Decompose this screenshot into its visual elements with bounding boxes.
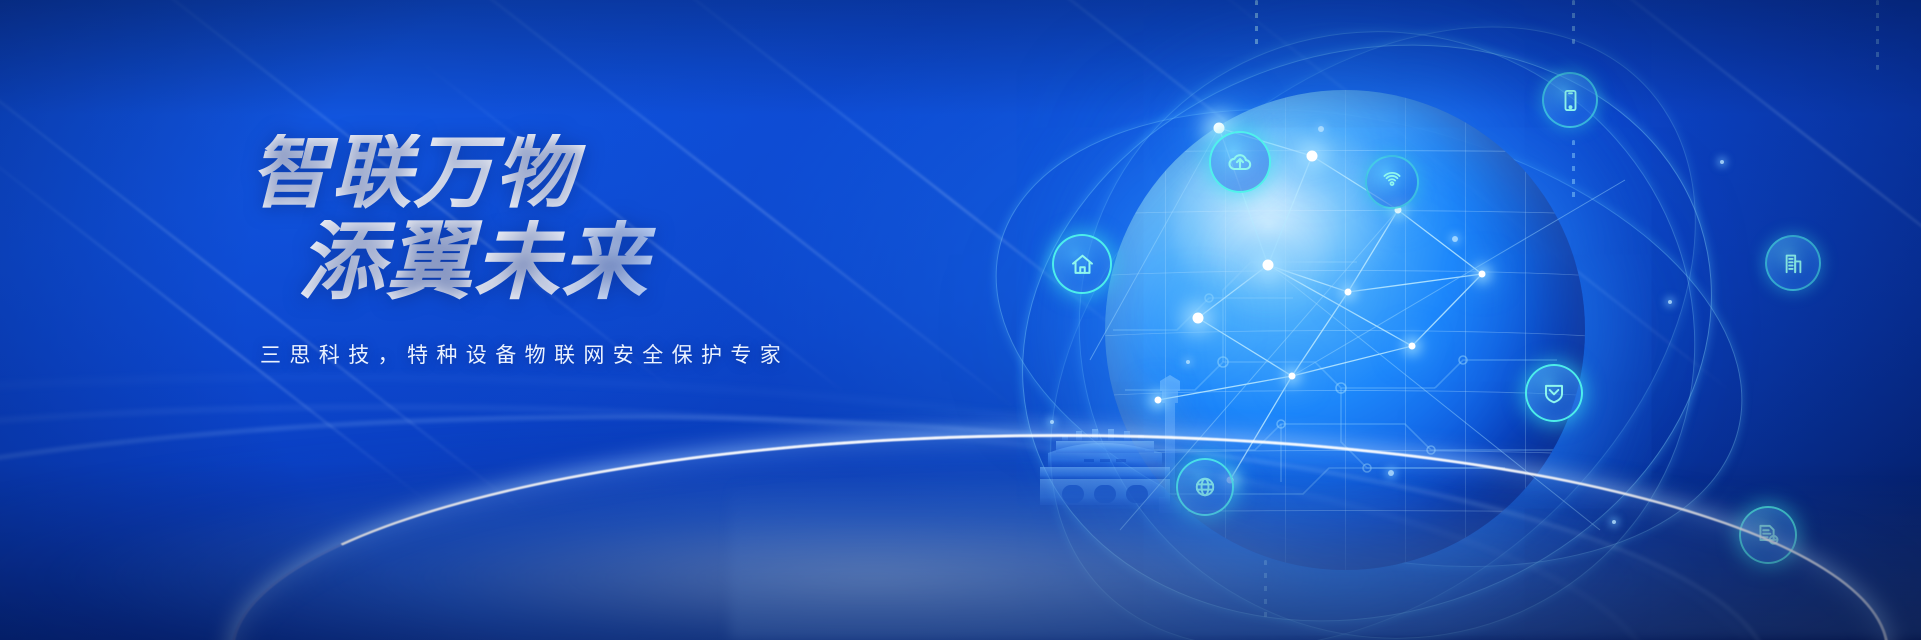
dotted-line: [1876, 0, 1879, 70]
floor-glow: [0, 410, 1921, 640]
sparkle-dot: [1318, 126, 1324, 132]
globe-network-icon[interactable]: [1176, 458, 1234, 516]
home-icon[interactable]: [1052, 234, 1112, 294]
globe-highlight: [1172, 128, 1412, 320]
hero-subtitle: 三思科技，特种设备物联网安全保护专家: [260, 339, 986, 369]
sparkle-dot: [1612, 520, 1616, 524]
sparkle-dot: [1186, 360, 1190, 364]
wifi-signal-icon[interactable]: [1365, 155, 1419, 209]
sparkle-dot: [1452, 236, 1458, 242]
document-report-icon: [1755, 522, 1781, 548]
mobile-phone-icon: [1558, 88, 1583, 113]
mobile-phone-icon[interactable]: [1542, 72, 1598, 128]
iot-globe: [1105, 90, 1585, 570]
dotted-line: [1264, 560, 1267, 618]
cloud-upload-icon[interactable]: [1209, 131, 1271, 193]
sparkle-dot: [1388, 470, 1394, 476]
sparkle-dot: [1720, 160, 1724, 164]
shield-icon[interactable]: [1525, 364, 1583, 422]
cloud-upload-icon: [1226, 148, 1254, 176]
hero-banner: 智联万物 添翼未来 三思科技，特种设备物联网安全保护专家: [0, 0, 1921, 640]
wifi-signal-icon: [1380, 170, 1404, 194]
document-report-icon[interactable]: [1739, 506, 1797, 564]
dotted-line: [1255, 0, 1258, 52]
home-icon: [1069, 251, 1096, 278]
building-icon: [1781, 251, 1806, 276]
trail-arc-bright: [231, 434, 1889, 640]
building-icon[interactable]: [1765, 235, 1821, 291]
headline-line-2: 添翼未来: [246, 220, 986, 304]
headline-line-1: 智联万物: [246, 134, 986, 212]
hero-copy: 智联万物 添翼未来 三思科技，特种设备物联网安全保护专家: [246, 134, 986, 369]
sparkle-dot: [1050, 420, 1054, 424]
shield-icon: [1541, 380, 1567, 406]
sparkle-dot: [1668, 300, 1672, 304]
globe-network-icon: [1192, 474, 1218, 500]
dotted-line: [1572, 140, 1575, 200]
dotted-line: [1572, 0, 1575, 44]
